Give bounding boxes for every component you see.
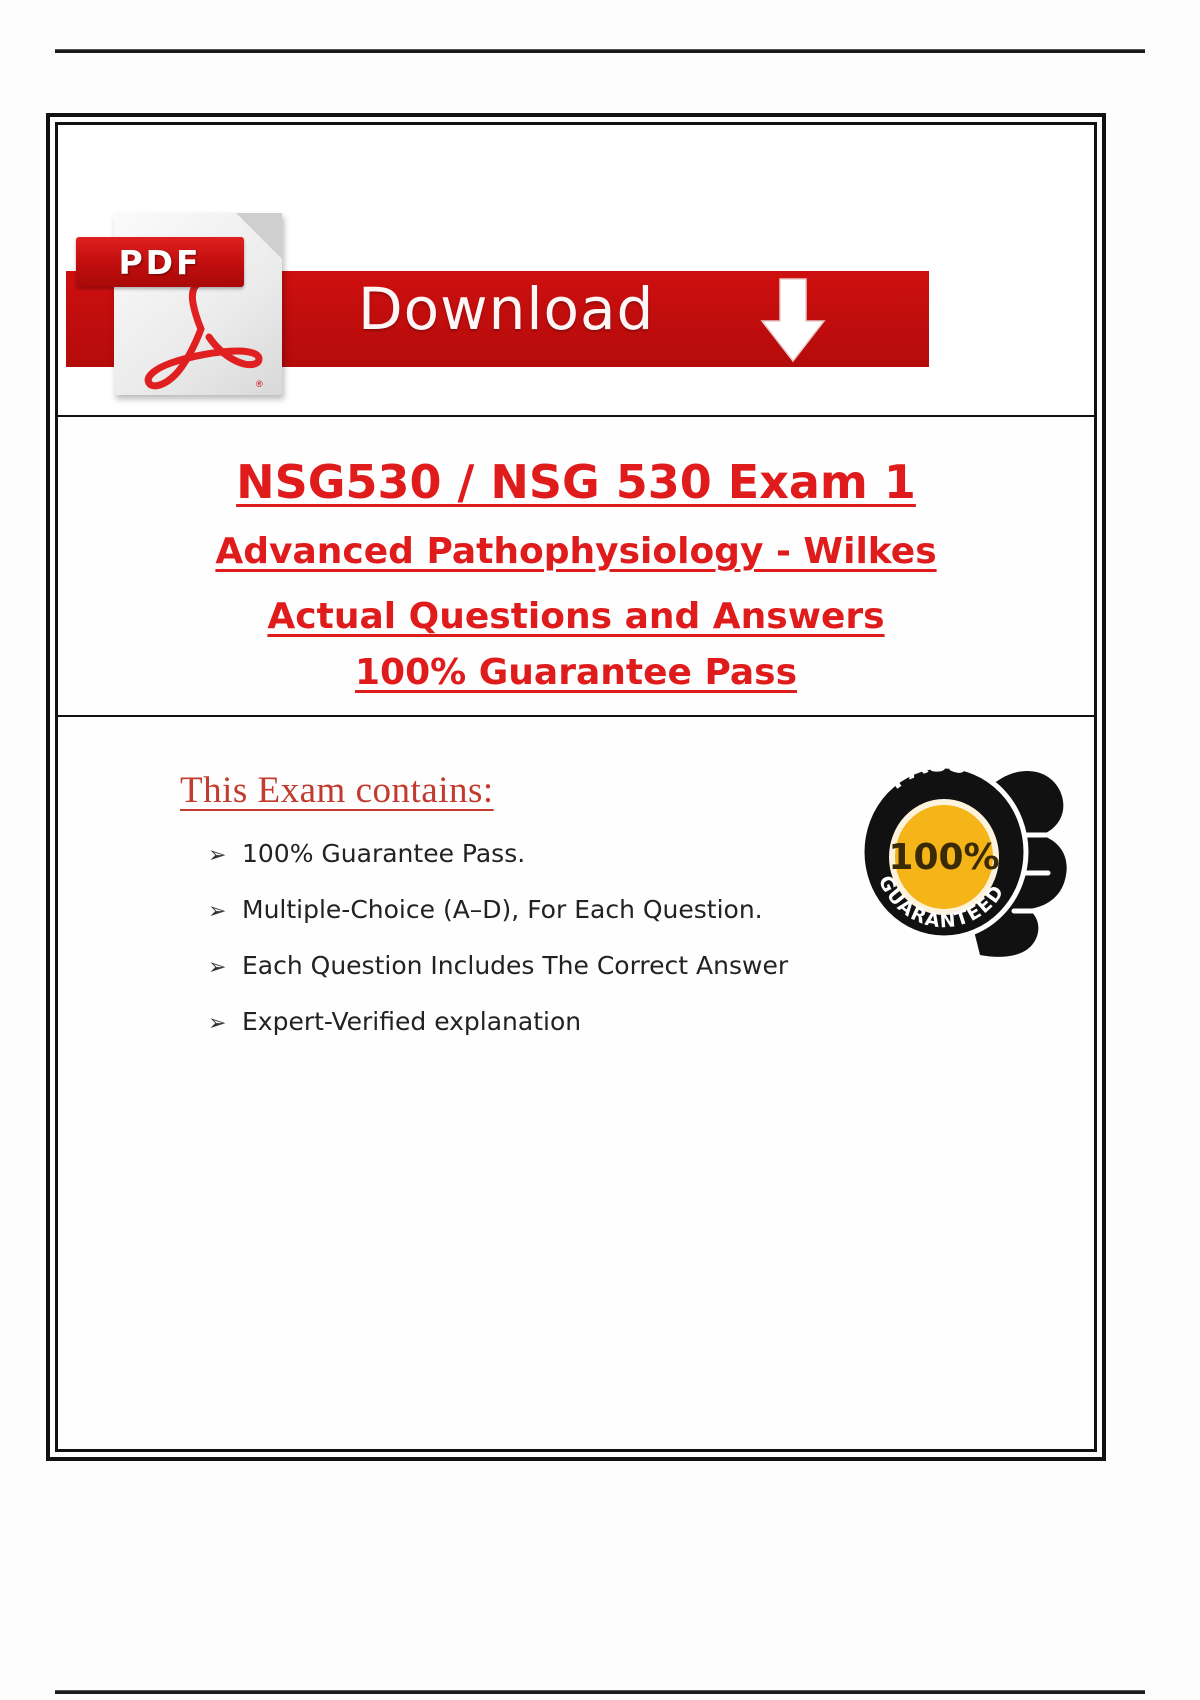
content-frame-inner: Download ® PDF — [55, 122, 1097, 1452]
list-item: ➢ Expert-Verified explanation — [208, 1007, 788, 1036]
document-page: Download ® PDF — [0, 0, 1200, 1700]
badge-percent-text: 100% — [888, 837, 999, 878]
exam-contains-section: This Exam contains: ➢ 100% Guarantee Pas… — [58, 717, 1094, 1449]
list-item-label: Each Question Includes The Correct Answe… — [242, 951, 788, 980]
list-item-label: Expert-Verified explanation — [242, 1007, 581, 1036]
arrow-bullet-icon: ➢ — [208, 955, 242, 980]
download-label: Download — [358, 275, 654, 343]
header-rule — [55, 49, 1145, 53]
content-frame-outer: Download ® PDF — [46, 113, 1106, 1461]
exam-title-line-2: Advanced Pathophysiology - Wilkes — [58, 531, 1094, 573]
contains-heading: This Exam contains: — [180, 769, 494, 812]
list-item-label: Multiple-Choice (A–D), For Each Question… — [242, 895, 763, 924]
exam-title-line-3: Actual Questions and Answers — [58, 596, 1094, 638]
pass-guaranteed-badge: PASS GUARANTEED 100% — [834, 735, 1084, 970]
download-banner-section: Download ® PDF — [58, 125, 1094, 417]
acrobat-swoosh-icon: ® — [140, 277, 268, 395]
download-arrow-icon — [760, 277, 826, 365]
arrow-bullet-icon: ➢ — [208, 843, 242, 868]
svg-text:®: ® — [256, 379, 263, 389]
pdf-badge-label: PDF — [118, 243, 201, 282]
footer-rule — [55, 1690, 1145, 1694]
arrow-bullet-icon: ➢ — [208, 1011, 242, 1036]
contains-list: ➢ 100% Guarantee Pass. ➢ Multiple-Choice… — [208, 839, 788, 1063]
list-item: ➢ Multiple-Choice (A–D), For Each Questi… — [208, 895, 788, 924]
list-item-label: 100% Guarantee Pass. — [242, 839, 525, 868]
exam-title-line-1: NSG530 / NSG 530 Exam 1 — [58, 455, 1094, 509]
list-item: ➢ Each Question Includes The Correct Ans… — [208, 951, 788, 980]
pdf-file-icon: ® PDF — [106, 199, 286, 399]
exam-title-line-4: 100% Guarantee Pass — [58, 652, 1094, 694]
pdf-badge: PDF — [76, 237, 244, 287]
list-item: ➢ 100% Guarantee Pass. — [208, 839, 788, 868]
arrow-bullet-icon: ➢ — [208, 899, 242, 924]
exam-title-section: NSG530 / NSG 530 Exam 1 Advanced Pathoph… — [58, 417, 1094, 717]
